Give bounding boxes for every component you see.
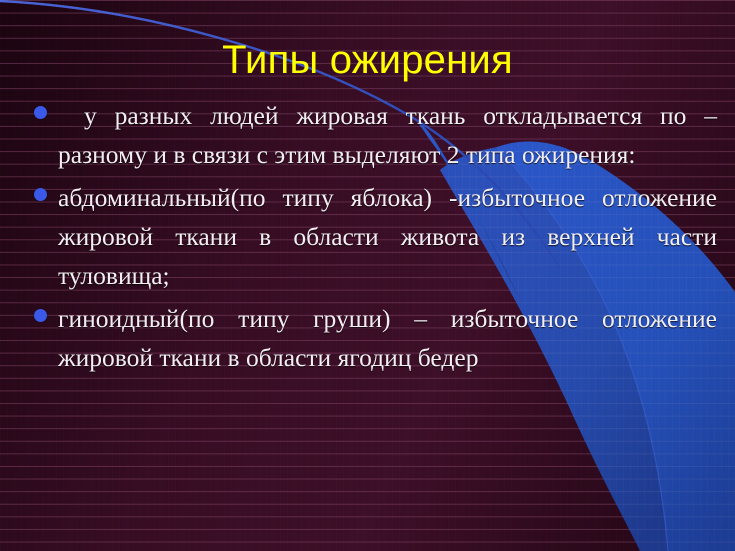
bullet-item-1: у разных людей жировая ткань откладывает… — [0, 96, 735, 174]
slide-title: Типы ожирения — [0, 36, 735, 84]
round-blue-bullet-icon — [34, 309, 47, 322]
bullet-list: у разных людей жировая ткань откладывает… — [0, 96, 735, 381]
bullet-text-3: гиноидный(по типу груши) – избыточное от… — [58, 299, 717, 377]
round-blue-bullet-icon — [34, 188, 47, 201]
presentation-slide: Типы ожирения у разных людей жировая тка… — [0, 0, 735, 551]
round-blue-bullet-icon — [34, 106, 47, 119]
bullet-item-3: гиноидный(по типу груши) – избыточное от… — [0, 299, 735, 377]
bullet-text-2: абдоминальный(по типу яблока) -избыточно… — [58, 178, 717, 295]
bullet-item-2: абдоминальный(по типу яблока) -избыточно… — [0, 178, 735, 295]
bullet-text-1: у разных людей жировая ткань откладывает… — [58, 96, 717, 174]
slide-content: Типы ожирения у разных людей жировая тка… — [0, 0, 735, 551]
